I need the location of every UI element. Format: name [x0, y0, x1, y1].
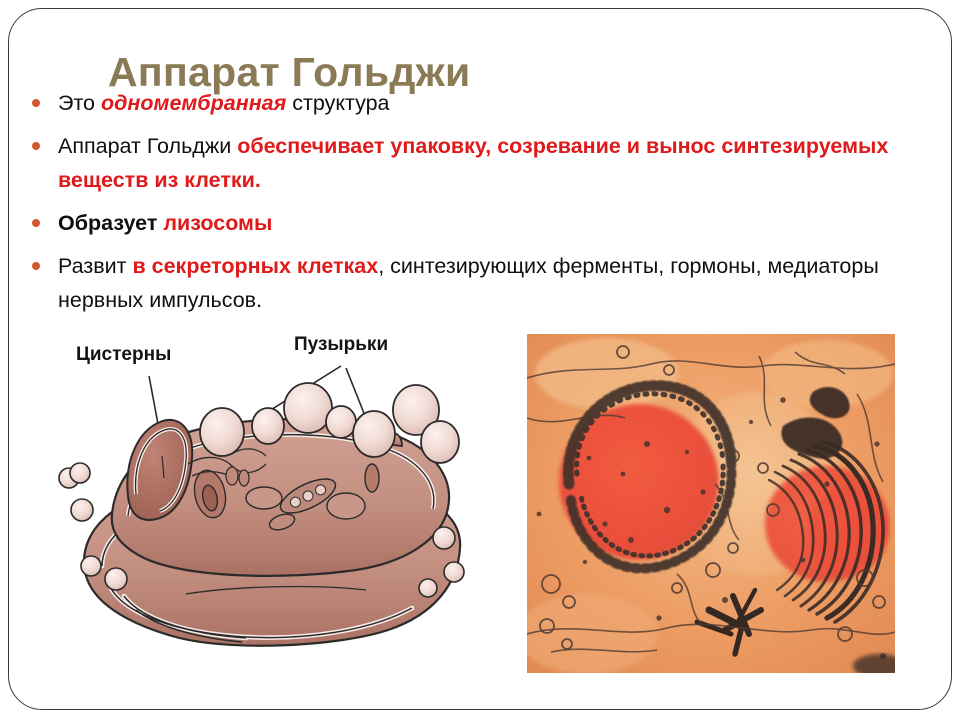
figures-row: Цистерны Пузырьки — [0, 318, 960, 688]
bullet-marker-icon — [32, 142, 40, 150]
bullet-list: Это одномембранная структура Аппарат Гол… — [26, 86, 906, 326]
bullet-marker-icon — [32, 262, 40, 270]
bullet-text-3: Образует лизосомы — [58, 211, 272, 235]
bullet-segment-highlight: лизосомы — [163, 211, 272, 235]
bullet-segment: Развит — [58, 254, 132, 278]
bullet-marker-icon — [32, 219, 40, 227]
bullet-segment: структура — [286, 91, 389, 115]
label-vesicles: Пузырьки — [294, 334, 388, 355]
bullet-text-4: Развит в секреторных клетках, синтезирую… — [58, 254, 879, 312]
golgi-apparatus-diagram: Цистерны Пузырьки — [36, 326, 486, 676]
bullet-segment-highlight: в секреторных клетках — [132, 254, 378, 278]
bullet-segment: Аппарат Гольджи — [58, 134, 237, 158]
bullet-marker-icon — [32, 99, 40, 107]
bullet-segment: Это — [58, 91, 101, 115]
list-item: Образует лизосомы — [26, 206, 906, 240]
list-item: Развит в секреторных клетках, синтезирую… — [26, 249, 906, 317]
golgi-body — [84, 418, 460, 646]
label-cisternae: Цистерны — [76, 344, 171, 365]
bullet-segment-highlight: одномембранная — [101, 91, 286, 115]
bullet-text-2: Аппарат Гольджи обеспечивает упаковку, с… — [58, 134, 888, 192]
list-item: Аппарат Гольджи обеспечивает упаковку, с… — [26, 129, 906, 197]
bullet-segment: Образует — [58, 211, 163, 235]
bullet-text-1: Это одномембранная структура — [58, 91, 390, 115]
slide-canvas: Аппарат Гольджи Это одномембранная струк… — [0, 0, 960, 720]
golgi-electron-micrograph — [527, 334, 895, 673]
list-item: Это одномембранная структура — [26, 86, 906, 120]
